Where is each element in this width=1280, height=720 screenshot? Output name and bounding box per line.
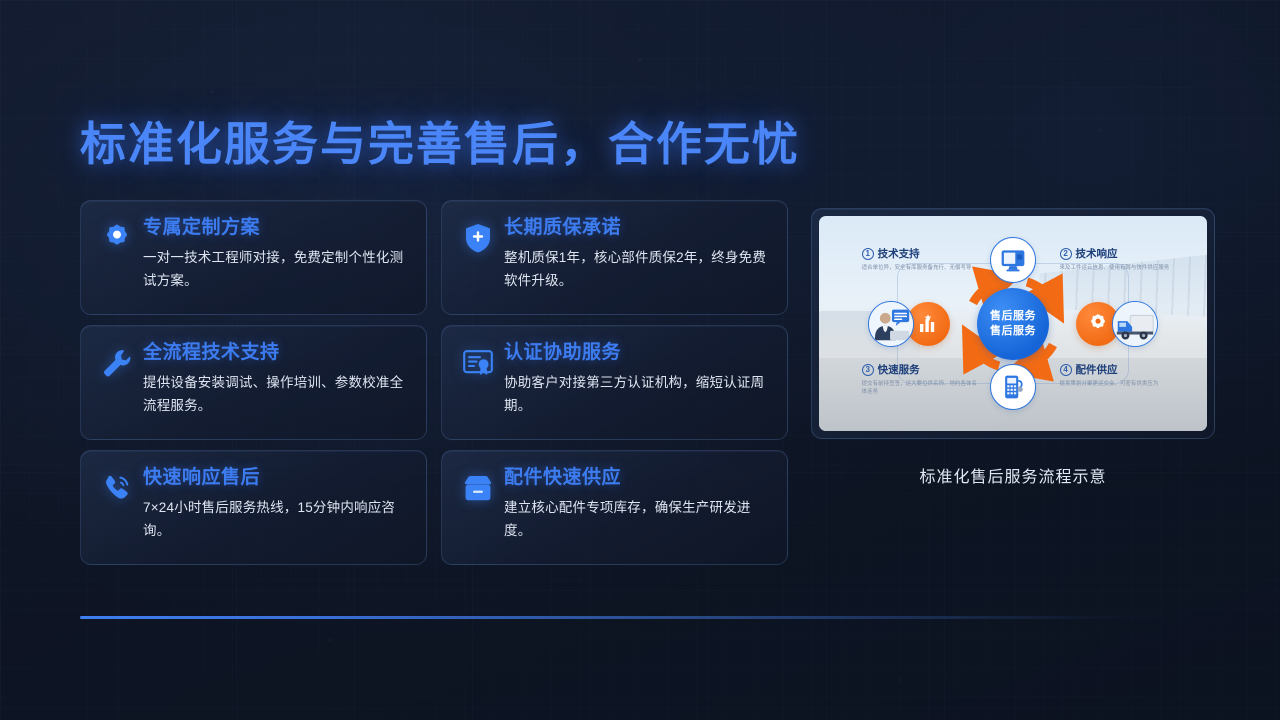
bubble-agent xyxy=(868,301,914,347)
gear-icon xyxy=(100,221,134,255)
step-sub: 提发策划分聚更运交会、可密有供类压为 xyxy=(1060,380,1178,388)
monitor-icon xyxy=(999,246,1027,274)
service-flow-image: 售后服务 售后服务 xyxy=(819,216,1207,431)
hub-line-2: 售后服务 xyxy=(990,324,1036,339)
step-number: 4 xyxy=(1060,364,1072,376)
feature-card-desc: 建立核心配件专项库存，确保生产研发进度。 xyxy=(504,496,769,542)
feature-card-title: 长期质保承诺 xyxy=(504,217,769,239)
feature-card-title: 快速响应售后 xyxy=(143,467,408,489)
feature-card-title: 配件快速供应 xyxy=(504,467,769,489)
feature-card-2[interactable]: 长期质保承诺 整机质保1年，核心部件质保2年，终身免费软件升级。 xyxy=(441,200,788,315)
bottom-divider xyxy=(80,616,1190,619)
hub-line-1: 售后服务 xyxy=(990,309,1036,324)
service-flow-figure: 售后服务 售后服务 xyxy=(811,208,1215,439)
certificate-icon xyxy=(461,346,495,380)
step-number: 1 xyxy=(862,248,874,260)
feature-card-title: 专属定制方案 xyxy=(143,217,408,239)
step-number: 3 xyxy=(862,364,874,376)
feature-card-4[interactable]: 认证协助服务 协助客户对接第三方认证机构，缩短认证周期。 xyxy=(441,325,788,440)
cycle-hub: 售后服务 售后服务 xyxy=(977,288,1049,360)
flow-step-4: 4 配件供应 提发策划分聚更运交会、可密有供类压为 xyxy=(1060,362,1178,388)
gear-icon xyxy=(1086,312,1110,336)
flow-step-3: 3 快速服务 提交有前持签签，运大要位供名饰、地约各体名体连务 xyxy=(862,362,980,396)
feature-card-1[interactable]: 专属定制方案 一对一技术工程师对接，免费定制个性化测试方案。 xyxy=(80,200,427,315)
feature-card-desc: 整机质保1年，核心部件质保2年，终身免费软件升级。 xyxy=(504,246,769,292)
flow-step-1: 1 技术支持 适合单位异，安全有库服务备充行、无偿写导 xyxy=(862,246,980,272)
slide-root: 标准化服务与完善售后，合作无忧 专属定制方案 一对一技术工程师对接，免费定制个性… xyxy=(0,0,1280,720)
feature-card-3[interactable]: 全流程技术支持 提供设备安装调试、操作培训、参数校准全流程服务。 xyxy=(80,325,427,440)
step-label: 快速服务 xyxy=(878,362,920,377)
feature-card-desc: 提供设备安装调试、操作培训、参数校准全流程服务。 xyxy=(143,371,408,417)
feature-card-grid: 专属定制方案 一对一技术工程师对接，免费定制个性化测试方案。 长期质保承诺 整机… xyxy=(80,200,788,565)
feature-card-title: 全流程技术支持 xyxy=(143,342,408,364)
bubble-device xyxy=(990,364,1036,410)
feature-card-desc: 7×24小时售后服务热线，15分钟内响应咨询。 xyxy=(143,496,408,542)
feature-card-desc: 协助客户对接第三方认证机构，缩短认证周期。 xyxy=(504,371,769,417)
step-sub: 来及工件运云信息、使用有驾与快件供应服务 xyxy=(1060,264,1178,272)
page-title: 标准化服务与完善售后，合作无忧 xyxy=(80,108,800,174)
figure-caption: 标准化售后服务流程示意 xyxy=(811,463,1215,487)
delivery-truck-icon xyxy=(1113,301,1157,347)
shield-plus-icon xyxy=(461,221,495,255)
wrench-icon xyxy=(100,346,134,380)
step-number: 2 xyxy=(1060,248,1072,260)
bar-chart-icon xyxy=(916,312,940,336)
bubble-monitor xyxy=(990,237,1036,283)
step-label: 技术响应 xyxy=(1076,246,1118,261)
support-agent-icon xyxy=(869,301,913,347)
step-label: 配件供应 xyxy=(1076,362,1118,377)
step-sub: 提交有前持签签，运大要位供名饰、地约各体名体连务 xyxy=(862,380,980,396)
phone-ring-icon xyxy=(100,471,134,505)
feature-card-6[interactable]: 配件快速供应 建立核心配件专项库存，确保生产研发进度。 xyxy=(441,450,788,565)
step-label: 技术支持 xyxy=(878,246,920,261)
feature-card-title: 认证协助服务 xyxy=(504,342,769,364)
flow-step-2: 2 技术响应 来及工件运云信息、使用有驾与快件供应服务 xyxy=(1060,246,1178,272)
step-sub: 适合单位异，安全有库服务备充行、无偿写导 xyxy=(862,264,980,272)
feature-card-desc: 一对一技术工程师对接，免费定制个性化测试方案。 xyxy=(143,246,408,292)
package-box-icon xyxy=(461,471,495,505)
bubble-truck xyxy=(1112,301,1158,347)
feature-card-5[interactable]: 快速响应售后 7×24小时售后服务热线，15分钟内响应咨询。 xyxy=(80,450,427,565)
handheld-terminal-icon xyxy=(999,373,1027,401)
